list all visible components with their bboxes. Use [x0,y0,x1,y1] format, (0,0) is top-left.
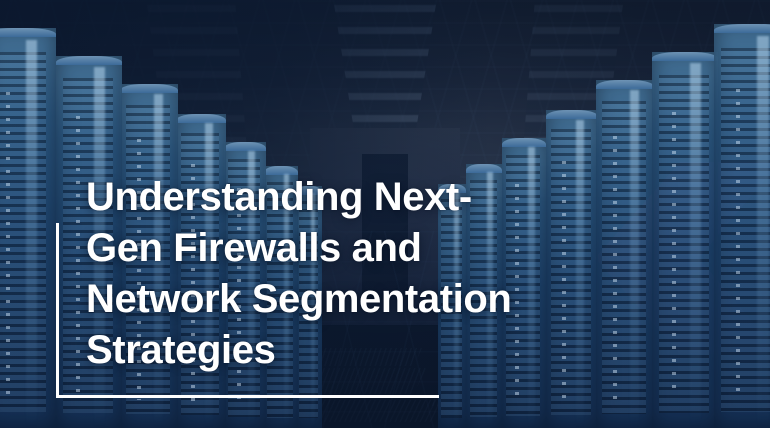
hero-banner: Understanding Next-Gen Firewalls andNetw… [0,0,770,428]
headline-line: Understanding Next- [86,175,472,219]
headline-line: Gen Firewalls and [86,226,422,270]
headline-line: Strategies [86,328,275,372]
hero-content: Understanding Next-Gen Firewalls andNetw… [0,0,770,428]
headline-line: Network Segmentation [86,277,511,321]
page-title: Understanding Next-Gen Firewalls andNetw… [86,172,632,376]
